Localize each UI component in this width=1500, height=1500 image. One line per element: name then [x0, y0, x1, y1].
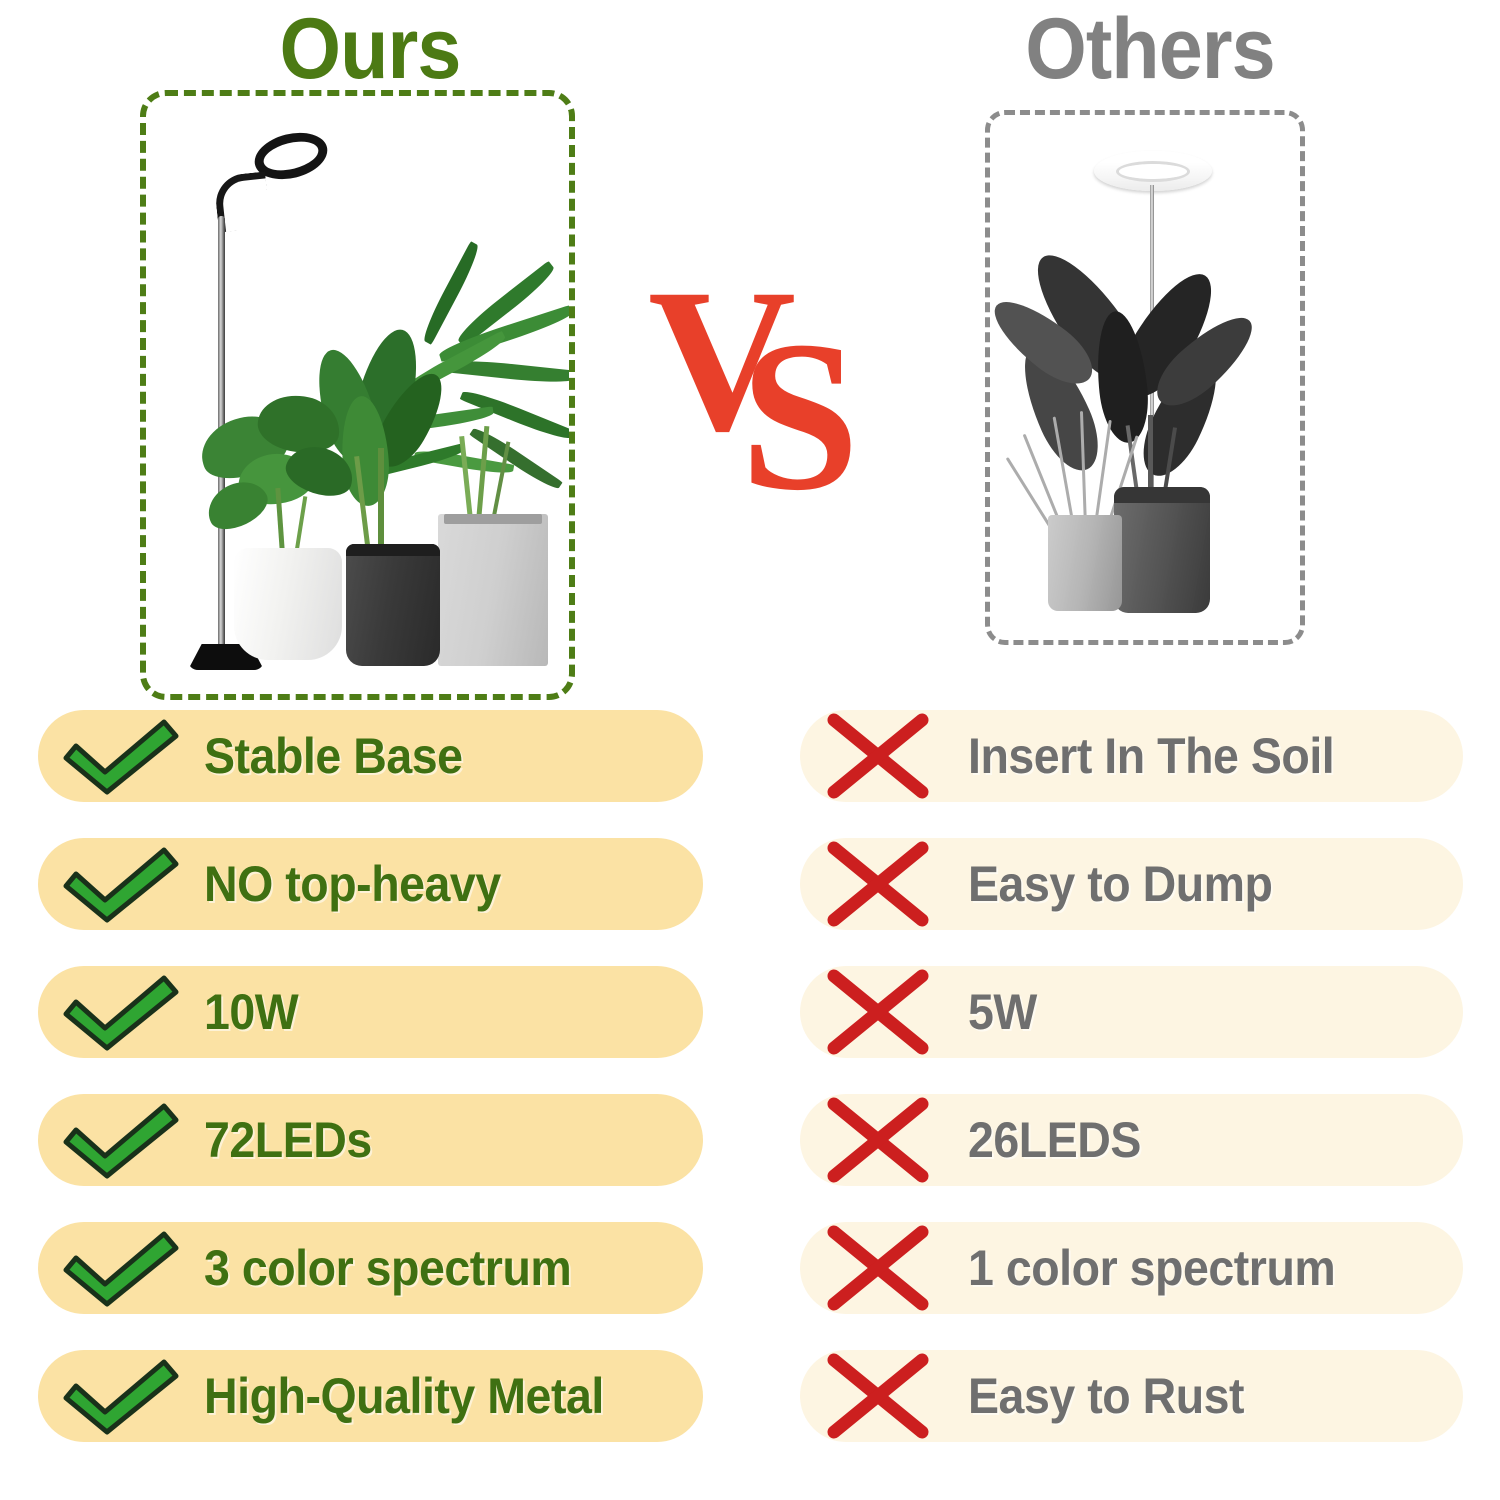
ours-feature-label: High-Quality Metal: [204, 1371, 604, 1421]
check-icon: [60, 1098, 182, 1182]
check-icon: [60, 1354, 182, 1438]
others-feature-list: Insert In The Soil Easy to Dump 5W: [800, 710, 1463, 1478]
others-title: Others: [828, 6, 1472, 92]
ours-product-frame: [140, 90, 575, 700]
others-feature-label: Easy to Dump: [968, 859, 1272, 909]
gray-square-planter-icon: [438, 514, 548, 666]
ours-feature-row: 3 color spectrum: [38, 1222, 703, 1314]
others-feature-label: 26LEDS: [968, 1115, 1141, 1165]
halo-ring-inner-icon: [1116, 161, 1190, 182]
versus-badge: V S: [640, 280, 890, 510]
check-icon: [60, 714, 182, 798]
others-feature-row: Easy to Dump: [800, 838, 1463, 930]
ours-title: Ours: [30, 6, 711, 92]
ours-feature-label: 3 color spectrum: [204, 1243, 571, 1293]
ours-feature-list: Stable Base NO top-heavy 10W 72LEDs 3 co: [38, 710, 703, 1478]
others-feature-label: 5W: [968, 987, 1037, 1037]
ours-feature-row: High-Quality Metal: [38, 1350, 703, 1442]
others-product-image: [990, 115, 1300, 640]
ours-feature-row: Stable Base: [38, 710, 703, 802]
cross-icon: [824, 968, 932, 1056]
cross-icon: [824, 840, 932, 928]
others-feature-row: Easy to Rust: [800, 1350, 1463, 1442]
dark-gray-pot-icon: [1114, 487, 1210, 613]
ours-product-image: [146, 96, 569, 694]
others-feature-row: Insert In The Soil: [800, 710, 1463, 802]
dark-cylinder-pot-icon: [346, 544, 440, 666]
ours-feature-row: NO top-heavy: [38, 838, 703, 930]
others-feature-row: 1 color spectrum: [800, 1222, 1463, 1314]
light-gray-pot-icon: [1048, 515, 1122, 611]
others-product-frame: [985, 110, 1305, 645]
others-feature-row: 26LEDS: [800, 1094, 1463, 1186]
vs-letter-s: S: [740, 308, 860, 523]
ours-feature-label: 10W: [204, 987, 298, 1037]
check-icon: [60, 842, 182, 926]
others-feature-label: 1 color spectrum: [968, 1243, 1335, 1293]
comparison-infographic: Ours Others: [0, 0, 1500, 1500]
ours-feature-label: 72LEDs: [204, 1115, 372, 1165]
others-feature-label: Insert In The Soil: [968, 731, 1334, 781]
banana-stem: [378, 448, 384, 552]
others-feature-label: Easy to Rust: [968, 1371, 1244, 1421]
cross-icon: [824, 1096, 932, 1184]
cross-icon: [824, 1352, 932, 1440]
check-icon: [60, 1226, 182, 1310]
cross-icon: [824, 712, 932, 800]
others-feature-row: 5W: [800, 966, 1463, 1058]
white-round-pot-icon: [234, 548, 342, 660]
ours-feature-row: 72LEDs: [38, 1094, 703, 1186]
cross-icon: [824, 1224, 932, 1312]
ours-feature-row: 10W: [38, 966, 703, 1058]
ours-feature-label: NO top-heavy: [204, 859, 501, 909]
ours-feature-label: Stable Base: [204, 731, 463, 781]
check-icon: [60, 970, 182, 1054]
